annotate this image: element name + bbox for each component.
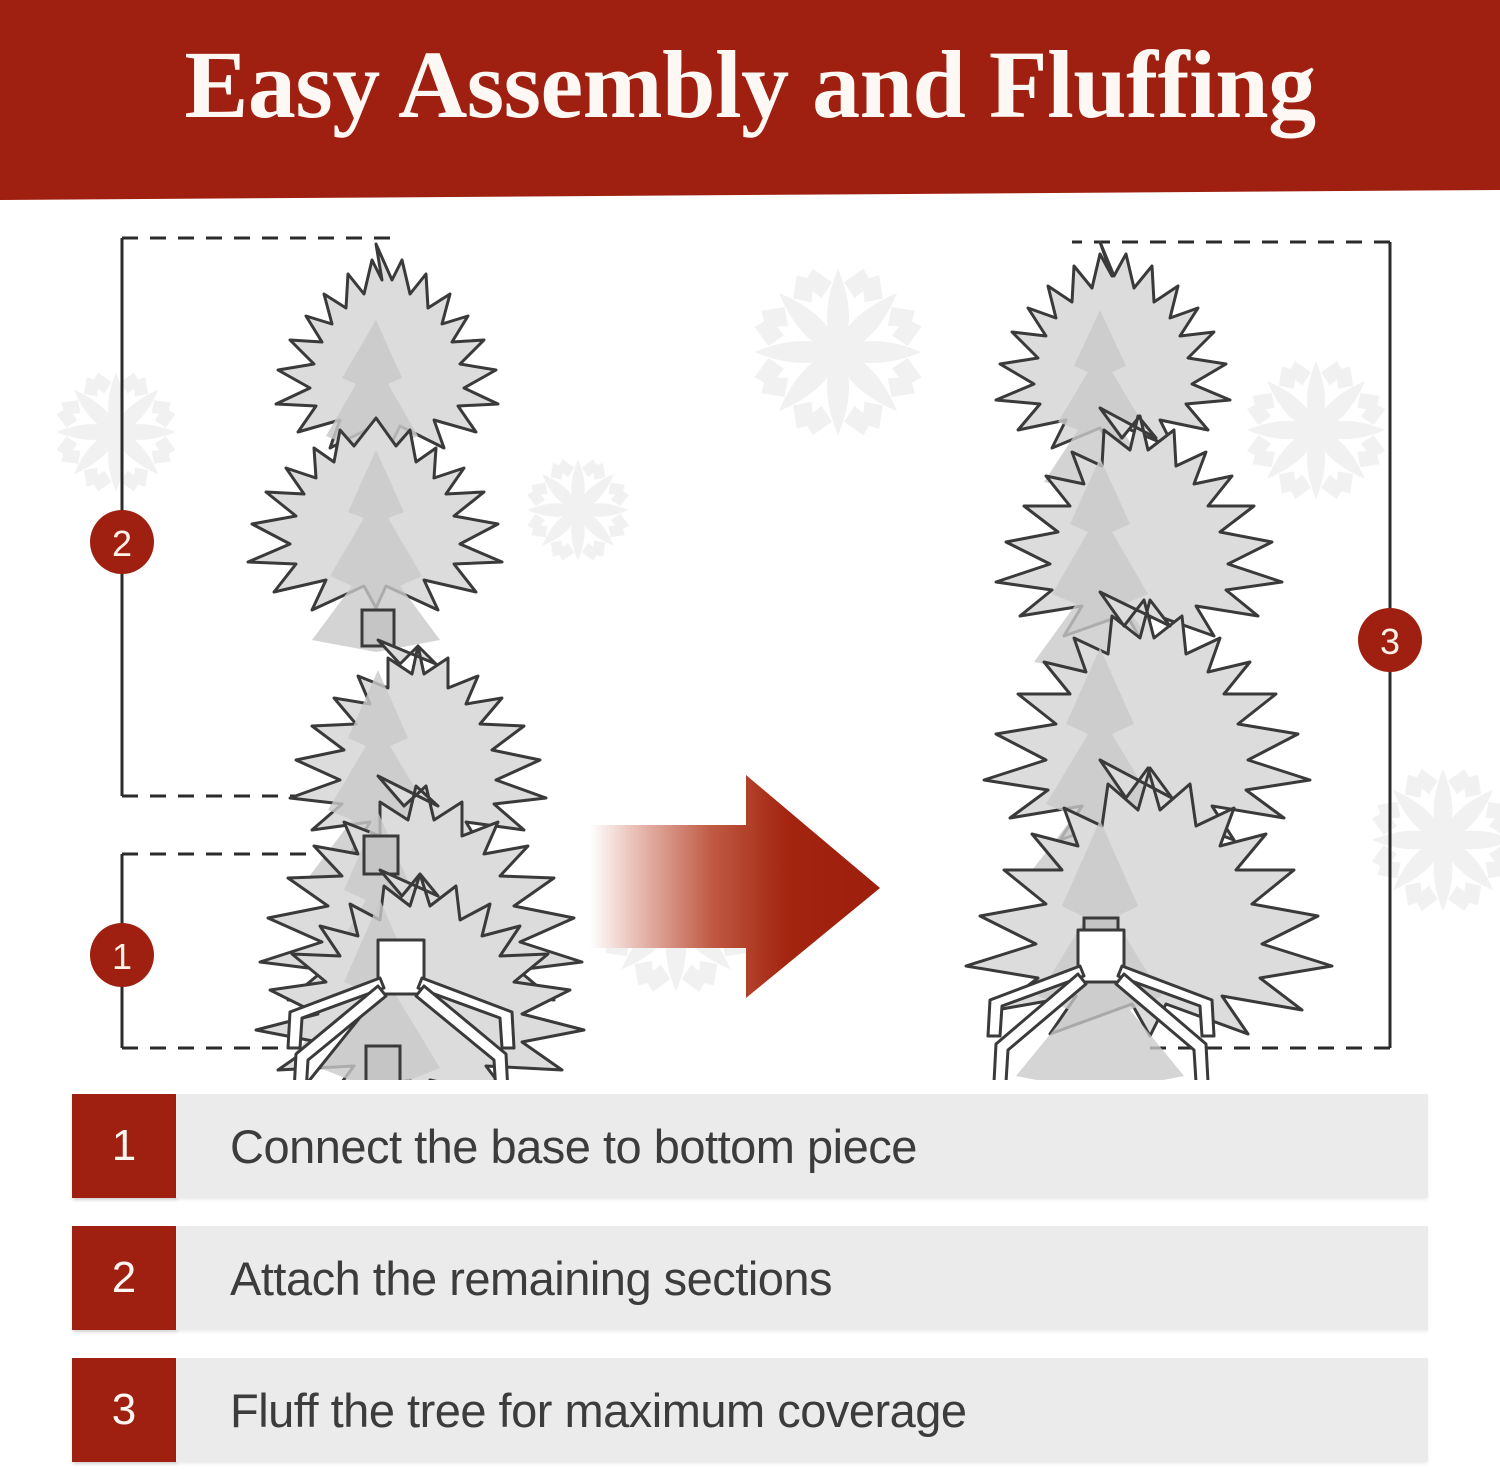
snowflake-icon — [1247, 361, 1385, 499]
marker-2-label: 2 — [112, 523, 132, 564]
step-text: Fluff the tree for maximum coverage — [176, 1358, 1428, 1462]
page-title: Easy Assembly and Fluffing — [0, 32, 1500, 138]
assembled-tree — [966, 242, 1332, 1080]
infographic-page: Easy Assembly and Fluffing — [0, 0, 1500, 1470]
marker-1-label: 1 — [112, 936, 132, 977]
marker-2: 2 — [90, 510, 154, 574]
step-text: Attach the remaining sections — [176, 1226, 1428, 1330]
step-row[interactable]: 2 Attach the remaining sections — [72, 1226, 1428, 1330]
snowflake-icon — [527, 459, 629, 561]
step-row[interactable]: 1 Connect the base to bottom piece — [72, 1094, 1428, 1198]
right-arrow — [590, 775, 880, 998]
step-row[interactable]: 3 Fluff the tree for maximum coverage — [72, 1358, 1428, 1462]
tree-section-top — [248, 244, 502, 652]
marker-3-label: 3 — [1380, 621, 1400, 662]
step-number-badge: 1 — [72, 1094, 176, 1198]
step-number-badge: 2 — [72, 1226, 176, 1330]
header-banner: Easy Assembly and Fluffing — [0, 0, 1500, 200]
diagram-canvas: 2 1 3 — [0, 200, 1500, 1080]
steps-list: 1 Connect the base to bottom piece 2 Att… — [0, 1080, 1500, 1470]
marker-1: 1 — [90, 923, 154, 987]
snowflake-icon — [56, 372, 175, 491]
snowflake-icon — [754, 268, 921, 435]
step-number-badge: 3 — [72, 1358, 176, 1462]
assembly-diagram: 2 1 3 — [0, 200, 1500, 1080]
step-text: Connect the base to bottom piece — [176, 1094, 1428, 1198]
marker-3: 3 — [1358, 608, 1422, 672]
